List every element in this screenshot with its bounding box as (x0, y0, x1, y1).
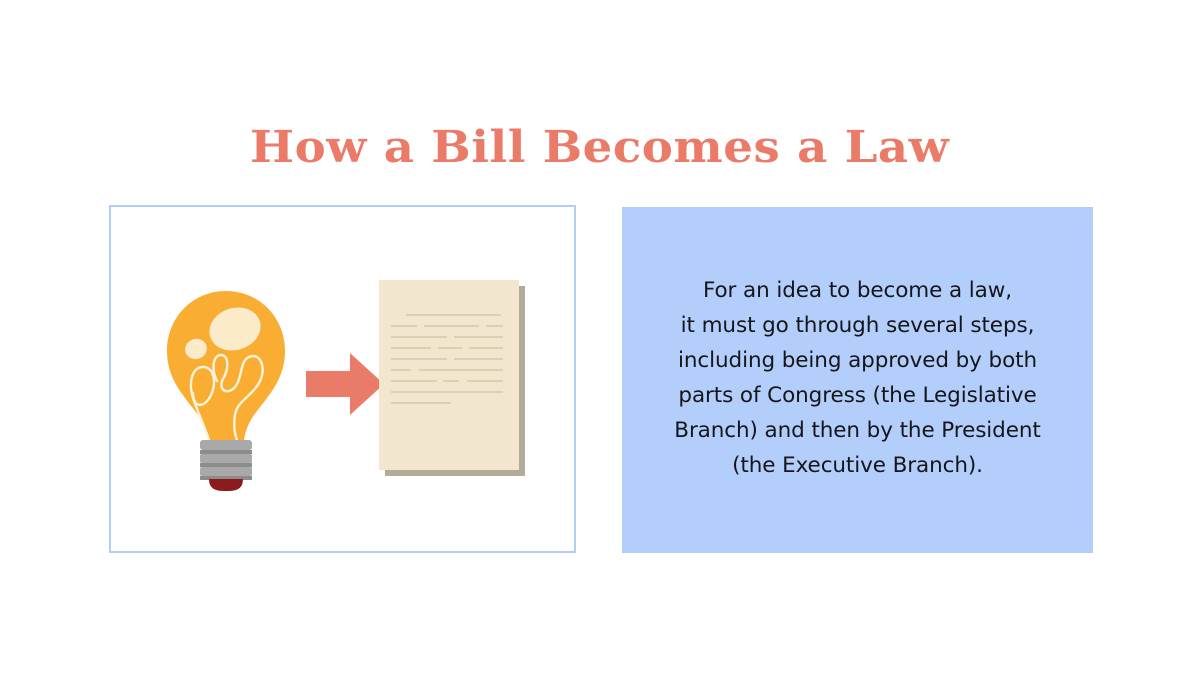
description-line: including being approved by both (648, 343, 1068, 378)
right-arrow-icon (306, 353, 384, 415)
lightbulb-icon (163, 289, 289, 491)
description-line: (the Executive Branch). (648, 448, 1068, 483)
illustration-panel (109, 205, 576, 553)
description-line: it must go through several steps, (648, 308, 1068, 343)
description-line: Branch) and then by the President (648, 413, 1068, 448)
description-panel: For an idea to become a law, it must go … (622, 207, 1093, 553)
description-line: parts of Congress (the Legislative (648, 378, 1068, 413)
description-line: For an idea to become a law, (648, 273, 1068, 308)
illustration-stage (111, 207, 574, 551)
description-text: For an idea to become a law, it must go … (648, 273, 1068, 483)
slide-root: { "slide": { "title": "How a Bill Become… (0, 0, 1200, 675)
bulb-base (200, 440, 252, 480)
page-title: How a Bill Becomes a Law (0, 122, 1200, 174)
document-text-lines (379, 280, 519, 470)
document-icon (379, 280, 525, 476)
